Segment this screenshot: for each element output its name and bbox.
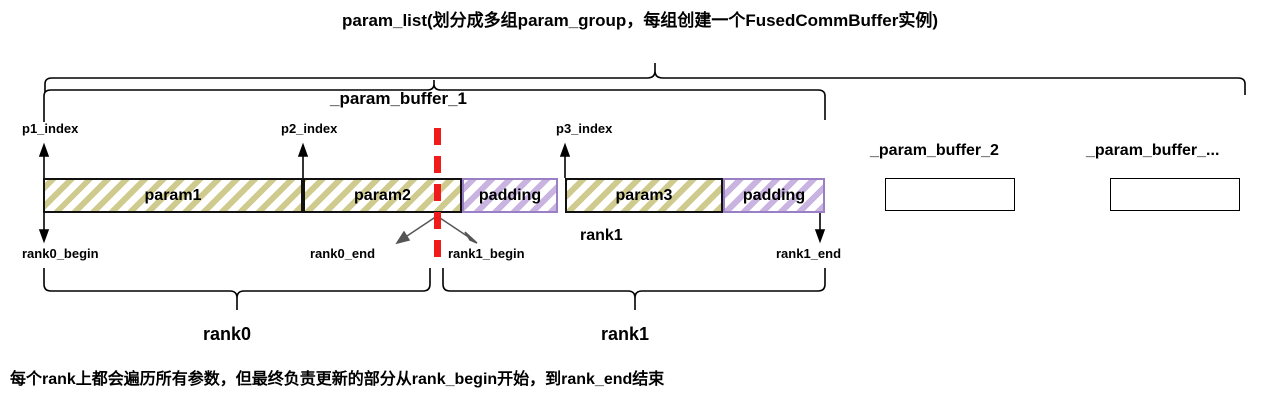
buffer3-caption: _param_buffer_... <box>1086 143 1219 159</box>
buffer2-caption: _param_buffer_2 <box>870 143 999 159</box>
index-arrows <box>40 145 569 178</box>
segment-param3[interactable]: param3 <box>565 178 723 213</box>
page-title: param_list(划分成多组param_group，每组创建一个FusedC… <box>0 12 1280 29</box>
rank0-begin-label: rank0_begin <box>22 247 99 260</box>
rank-divider-line <box>434 128 441 266</box>
p2-index-label: p2_index <box>281 122 337 135</box>
buffer2-box[interactable] <box>885 178 1015 211</box>
segment-label: param3 <box>614 187 675 205</box>
segment-label: padding <box>477 187 543 205</box>
rank1-brace-label: rank1 <box>601 325 649 343</box>
segment-label: param1 <box>143 187 204 205</box>
segment-padding-1[interactable]: padding <box>462 178 558 213</box>
segment-label: param2 <box>352 187 413 205</box>
brace-param-list <box>45 63 1245 95</box>
p3-index-label: p3_index <box>556 122 612 135</box>
rank1-end-arrow <box>816 213 824 241</box>
p1-index-label: p1_index <box>22 122 78 135</box>
bottom-caption: 每个rank上都会遍历所有参数，但最终负责更新的部分从rank_begin开始，… <box>10 372 664 388</box>
rank1-end-label: rank1_end <box>776 247 841 260</box>
rank0-end-label: rank0_end <box>310 247 375 260</box>
rank0-begin-arrow <box>40 213 48 241</box>
segment-padding-2[interactable]: padding <box>723 178 825 213</box>
rank0-brace-label: rank0 <box>203 325 251 343</box>
rank1-region-label: rank1 <box>580 228 623 244</box>
segment-label: padding <box>741 187 807 205</box>
buffer3-box[interactable] <box>1110 178 1240 211</box>
segment-param1[interactable]: param1 <box>43 178 303 213</box>
brace-rank1 <box>443 268 825 310</box>
rank1-begin-label: rank1_begin <box>448 247 525 260</box>
diagram-canvas: param_list(划分成多组param_group，每组创建一个FusedC… <box>0 0 1280 410</box>
brace-rank0 <box>44 268 430 310</box>
buffer1-caption: _param_buffer_1 <box>330 90 467 107</box>
